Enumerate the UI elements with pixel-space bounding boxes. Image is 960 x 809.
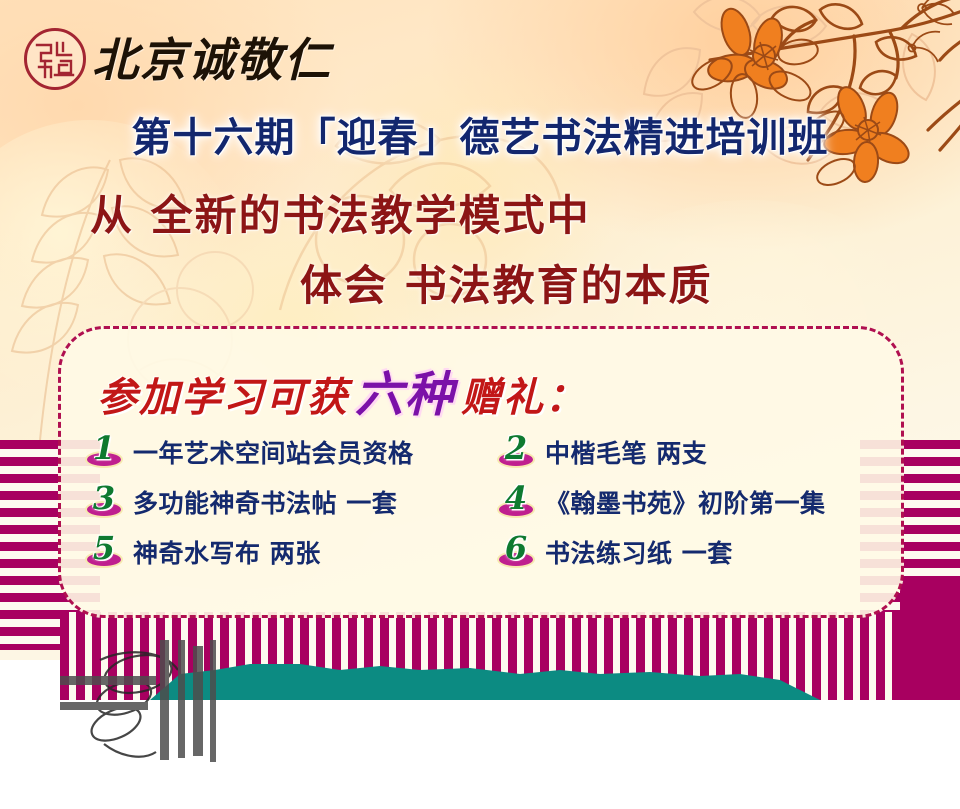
- gift-card: 参加学习可获六种赠礼： 1 一年艺术空间站会员资格 2 中楷毛笔 两支: [58, 326, 904, 618]
- list-item: 3 多功能神奇书法帖 一套: [81, 477, 493, 527]
- card-heading-suffix: 赠礼：: [461, 374, 587, 421]
- list-item: 2 中楷毛笔 两支: [493, 427, 887, 477]
- number-badge-icon: 3: [81, 481, 127, 523]
- list-item: 4 《翰墨书苑》初阶第一集: [493, 477, 887, 527]
- list-item: 6 书法练习纸 一套: [493, 527, 887, 577]
- number-badge-icon: 4: [493, 481, 539, 523]
- gift-label: 书法练习纸 一套: [545, 534, 733, 570]
- card-heading-prefix: 参加学习可获: [97, 374, 349, 421]
- poster-canvas: 北京诚敬仁 第十六期「迎春」德艺书法精进培训班 从 全新的书法教学模式中 体会 …: [0, 0, 960, 809]
- card-heading: 参加学习可获六种赠礼：: [97, 355, 587, 425]
- gift-label: 多功能神奇书法帖 一套: [133, 484, 397, 520]
- red-seal-stamp-icon: [24, 28, 86, 90]
- badge-number: 3: [81, 479, 127, 517]
- calligraphy-stroke-icon: [60, 640, 320, 790]
- page-title: 第十六期「迎春」德艺书法精进培训班: [0, 105, 960, 163]
- gift-list: 1 一年艺术空间站会员资格 2 中楷毛笔 两支 3 多功能神奇书法帖 一套: [81, 427, 887, 577]
- gift-label: 神奇水写布 两张: [133, 534, 321, 570]
- number-badge-icon: 1: [81, 431, 127, 473]
- list-item: 1 一年艺术空间站会员资格: [81, 427, 493, 477]
- brand-name: 北京诚敬仁: [92, 24, 332, 90]
- subtitle-line-2: 体会 书法教育的本质: [300, 252, 713, 313]
- badge-number: 2: [493, 429, 539, 467]
- card-heading-highlight: 六种: [349, 367, 461, 423]
- badge-number: 5: [81, 529, 127, 567]
- badge-number: 1: [81, 429, 127, 467]
- gift-label: 《翰墨书苑》初阶第一集: [545, 484, 826, 520]
- gift-label: 一年艺术空间站会员资格: [133, 434, 414, 470]
- badge-number: 4: [493, 479, 539, 517]
- gift-label: 中楷毛笔 两支: [545, 434, 707, 470]
- badge-number: 6: [493, 529, 539, 567]
- number-badge-icon: 6: [493, 531, 539, 573]
- number-badge-icon: 2: [493, 431, 539, 473]
- list-item: 5 神奇水写布 两张: [81, 527, 493, 577]
- subtitle-line-1: 从 全新的书法教学模式中: [90, 182, 591, 243]
- number-badge-icon: 5: [81, 531, 127, 573]
